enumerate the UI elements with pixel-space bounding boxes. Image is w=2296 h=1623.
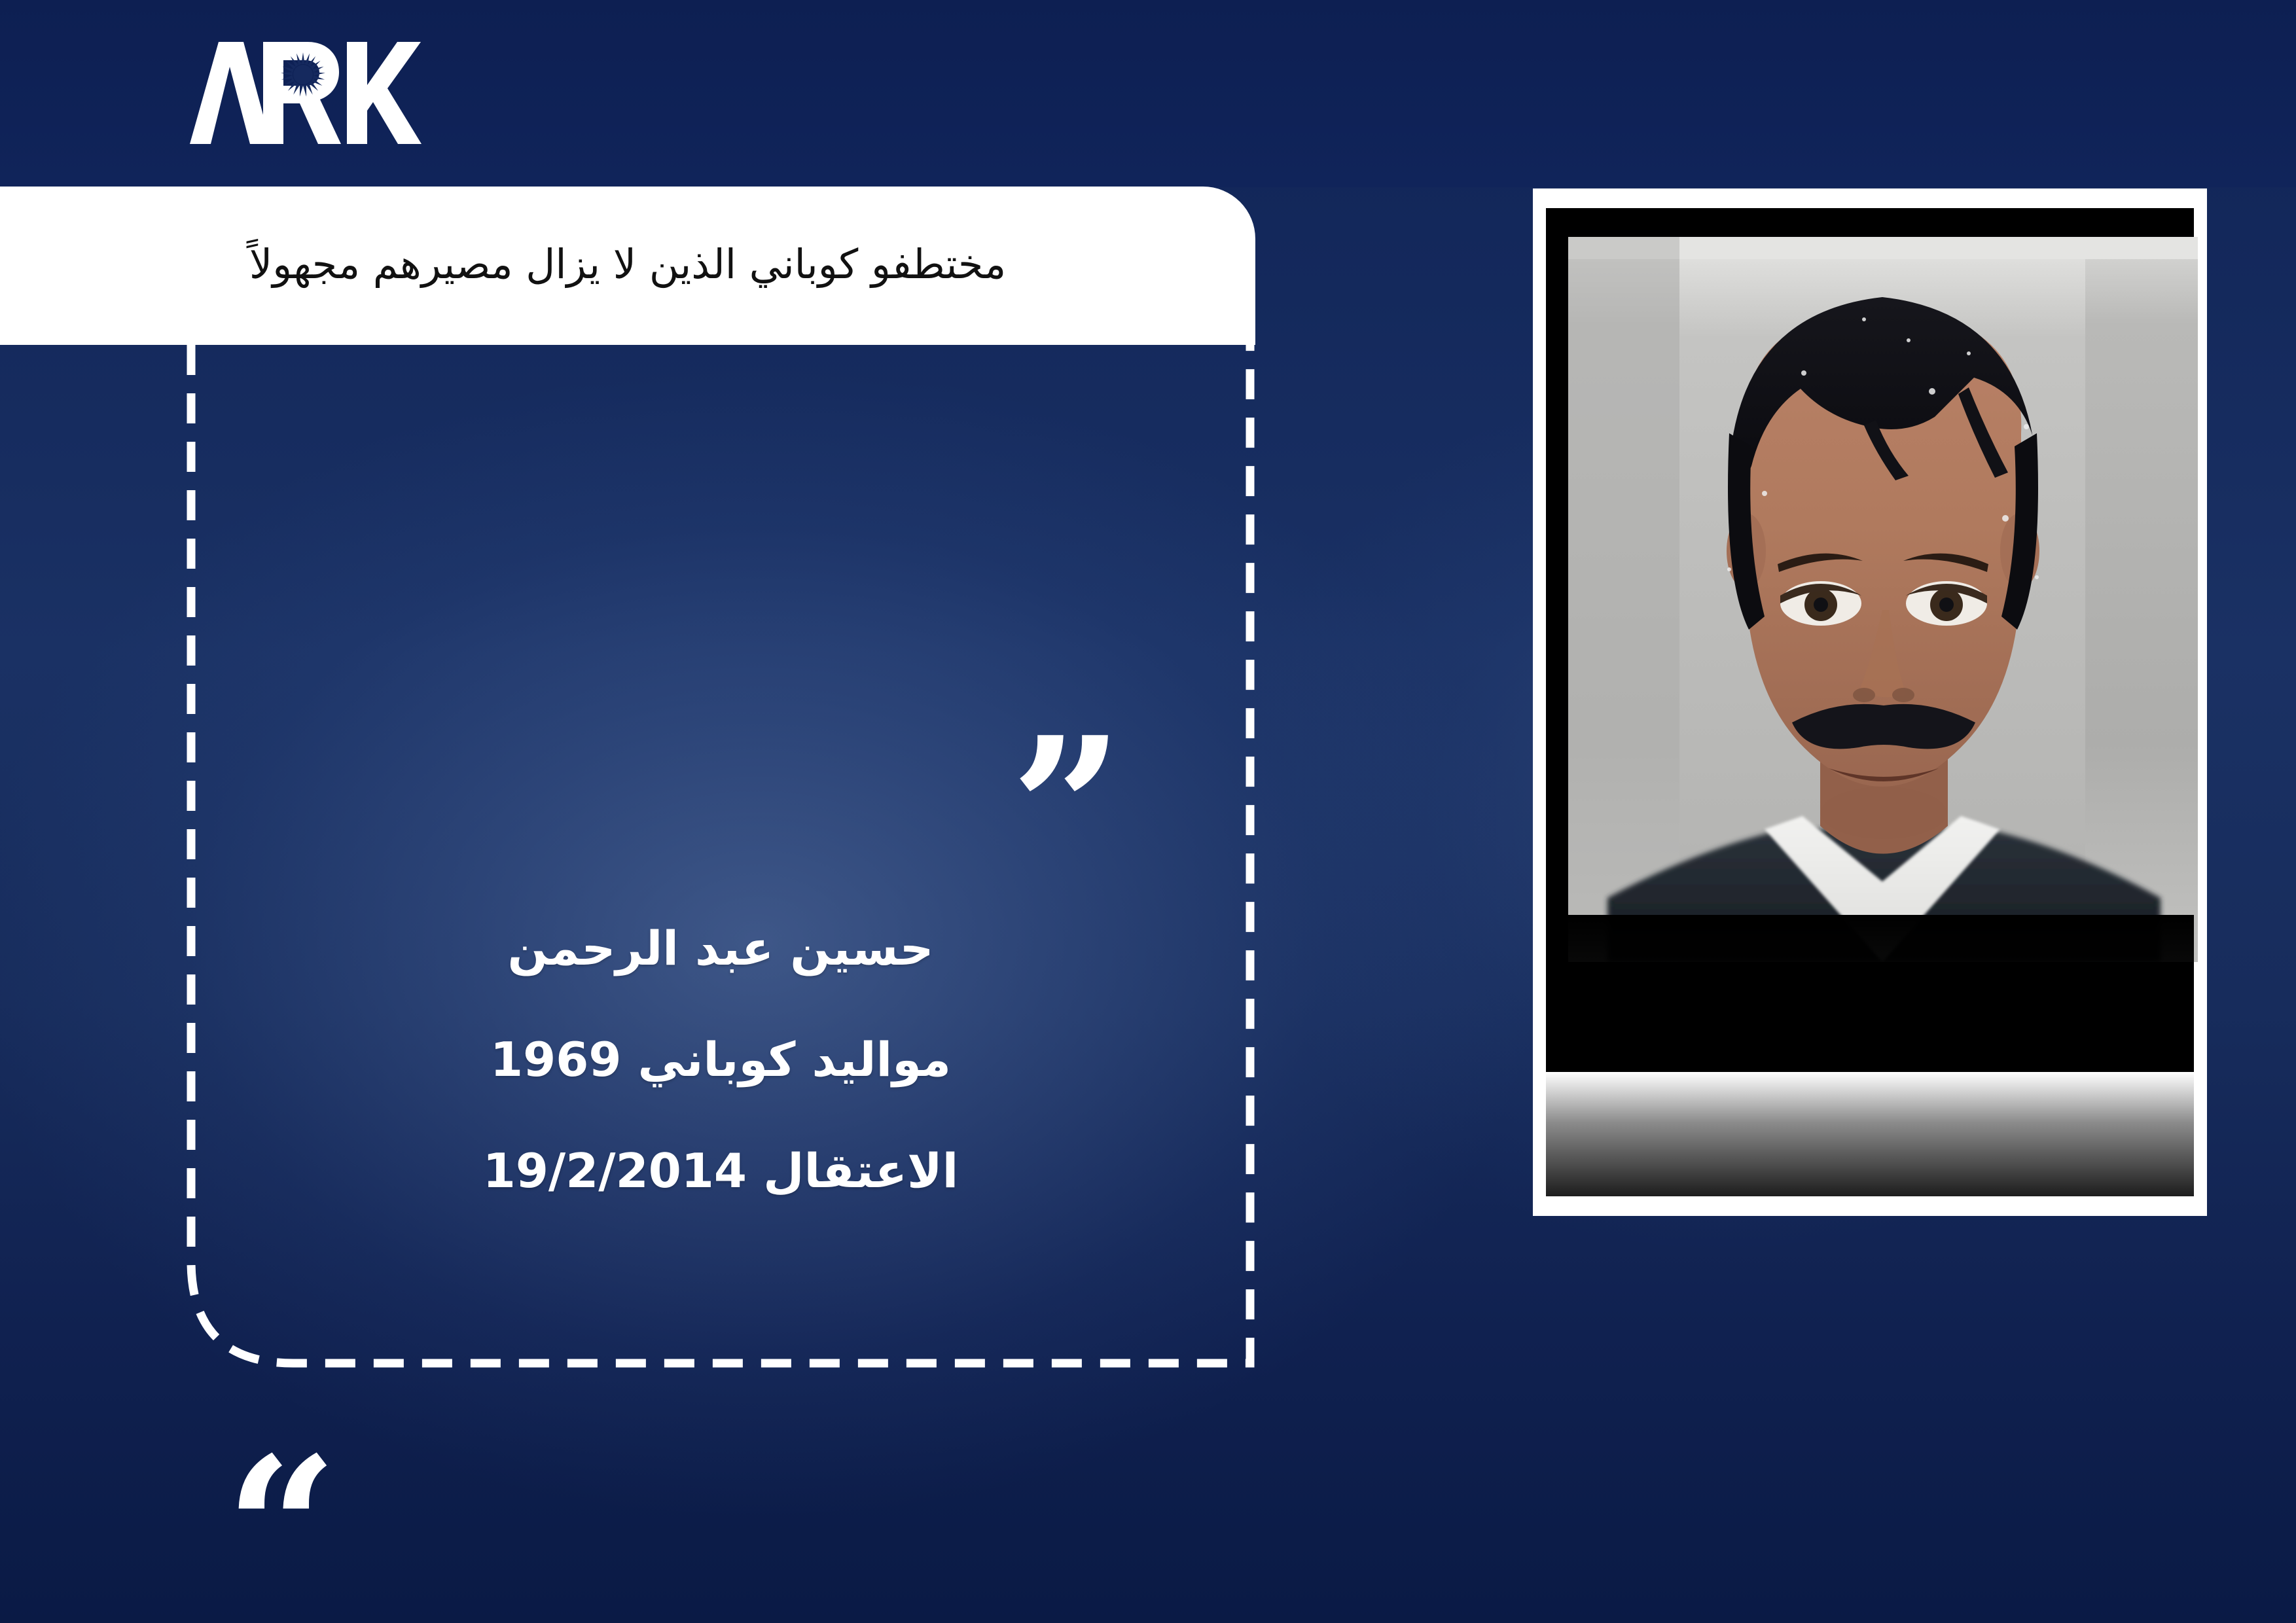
title-banner: مختطفو كوباني الذين لا يزال مصيرهم مجهول…	[0, 187, 1255, 345]
portrait-photo-svg	[1568, 237, 2198, 962]
quote-text-block: حسين عبد الرحمن مواليد كوباني 1969 الاعت…	[187, 921, 1254, 1198]
person-name: حسين عبد الرحمن	[187, 921, 1254, 976]
quote-card: ” حسين عبد الرحمن مواليد كوباني 1969 الا…	[187, 345, 1254, 1367]
birth-line: مواليد كوباني 1969	[187, 1032, 1254, 1087]
photo-black-frame	[1546, 208, 2194, 1196]
page-title: مختطفو كوباني الذين لا يزال مصيرهم مجهول…	[249, 240, 1006, 292]
ark-logo-svg	[187, 34, 423, 152]
ark-logo[interactable]	[187, 34, 423, 152]
closing-quote-icon: ”	[1011, 711, 1124, 908]
portrait-panel	[1533, 188, 2207, 1216]
arrest-line: الاعتقال 19/2/2014	[187, 1143, 1254, 1198]
opening-quote-icon: “	[225, 1431, 338, 1623]
photo-frame-fade	[1533, 1072, 2207, 1216]
portrait-photo	[1568, 237, 2198, 962]
